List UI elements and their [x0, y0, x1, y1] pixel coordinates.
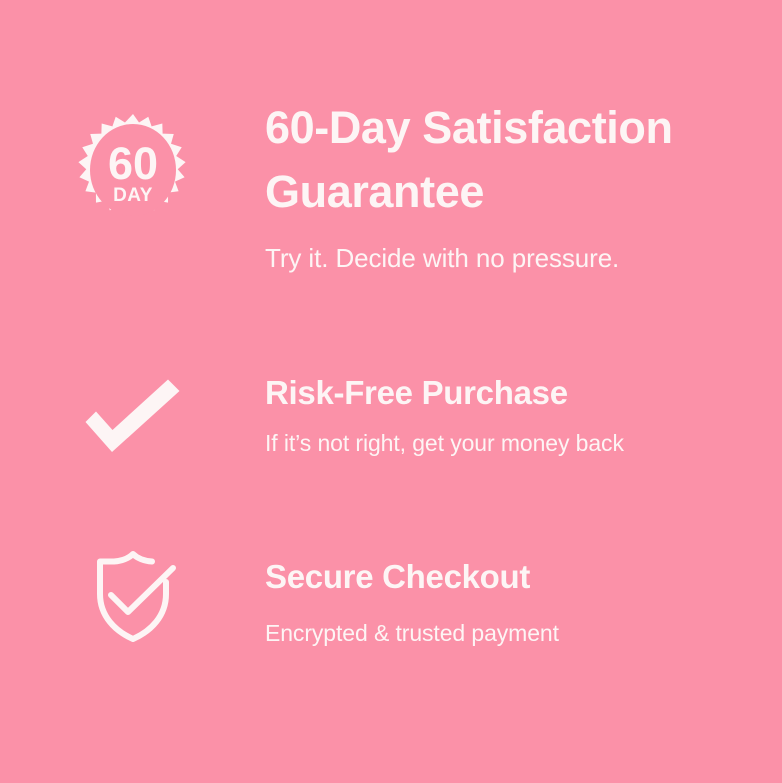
feature-risk-free-purchase: Risk-Free Purchase If it’s not right, ge… [0, 372, 782, 459]
hero-subtitle: Try it. Decide with no pressure. [265, 242, 752, 276]
shield-check-icon [89, 548, 177, 644]
feature-title: Secure Checkout [265, 556, 752, 597]
feature-subtitle: Encrypted & trusted payment [265, 619, 685, 649]
badge-unit: DAY [113, 185, 153, 206]
guarantee-seal-badge-icon: 60 DAY [64, 100, 202, 248]
hero-title: 60-Day Satisfaction Guarantee [265, 96, 735, 224]
feature-title: Risk-Free Purchase [265, 372, 752, 413]
feature-secure-checkout: Secure Checkout Encrypted & trusted paym… [0, 544, 782, 649]
feature-icon-column [0, 372, 265, 456]
checkmark-icon [85, 376, 180, 456]
hero-text-column: 60-Day Satisfaction Guarantee Try it. De… [265, 96, 782, 276]
feature-text-column: Risk-Free Purchase If it’s not right, ge… [265, 372, 782, 459]
badge-number: 60 [107, 138, 157, 189]
guarantee-trust-panel: 60 DAY 60-Day Satisfaction Guarantee Try… [0, 0, 782, 783]
feature-icon-column [0, 544, 265, 644]
feature-subtitle: If it’s not right, get your money back [265, 429, 635, 459]
hero-badge-column: 60 DAY [0, 96, 265, 248]
hero-guarantee-block: 60 DAY 60-Day Satisfaction Guarantee Try… [0, 96, 782, 276]
feature-text-column: Secure Checkout Encrypted & trusted paym… [265, 544, 782, 649]
